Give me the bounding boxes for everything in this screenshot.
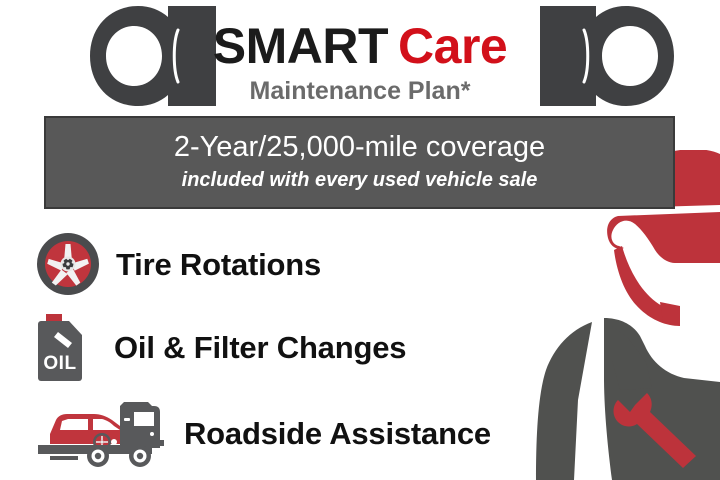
feature-label: Oil & Filter Changes: [114, 332, 406, 363]
page-title: SMARTCare: [0, 21, 720, 71]
oil-bottle-text: OIL: [43, 353, 76, 374]
feature-item-tire-rotations: Tire Rotations: [36, 232, 321, 296]
feature-label: Roadside Assistance: [184, 418, 491, 449]
brand-header: SMARTCare Maintenance Plan*: [0, 0, 720, 112]
smart-care-maintenance-plan-graphic: SMARTCare Maintenance Plan* 2-Year/25,00…: [0, 0, 720, 480]
feature-label: Tire Rotations: [116, 249, 321, 280]
feature-item-roadside-assistance: Roadside Assistance: [36, 396, 491, 470]
oil-bottle-icon: OIL: [36, 312, 88, 382]
brand-name-primary: SMART: [213, 18, 388, 74]
coverage-banner: 2-Year/25,000-mile coverage included wit…: [44, 116, 675, 209]
tow-truck-icon: [36, 396, 166, 470]
coverage-headline: 2-Year/25,000-mile coverage: [46, 132, 673, 164]
coverage-subline: included with every used vehicle sale: [46, 169, 673, 191]
feature-item-oil-filter-changes: OIL Oil & Filter Changes: [36, 312, 406, 382]
tire-wheel-icon: [36, 232, 100, 296]
brand-subtitle: Maintenance Plan*: [0, 79, 720, 104]
brand-name-secondary: Care: [388, 18, 507, 74]
